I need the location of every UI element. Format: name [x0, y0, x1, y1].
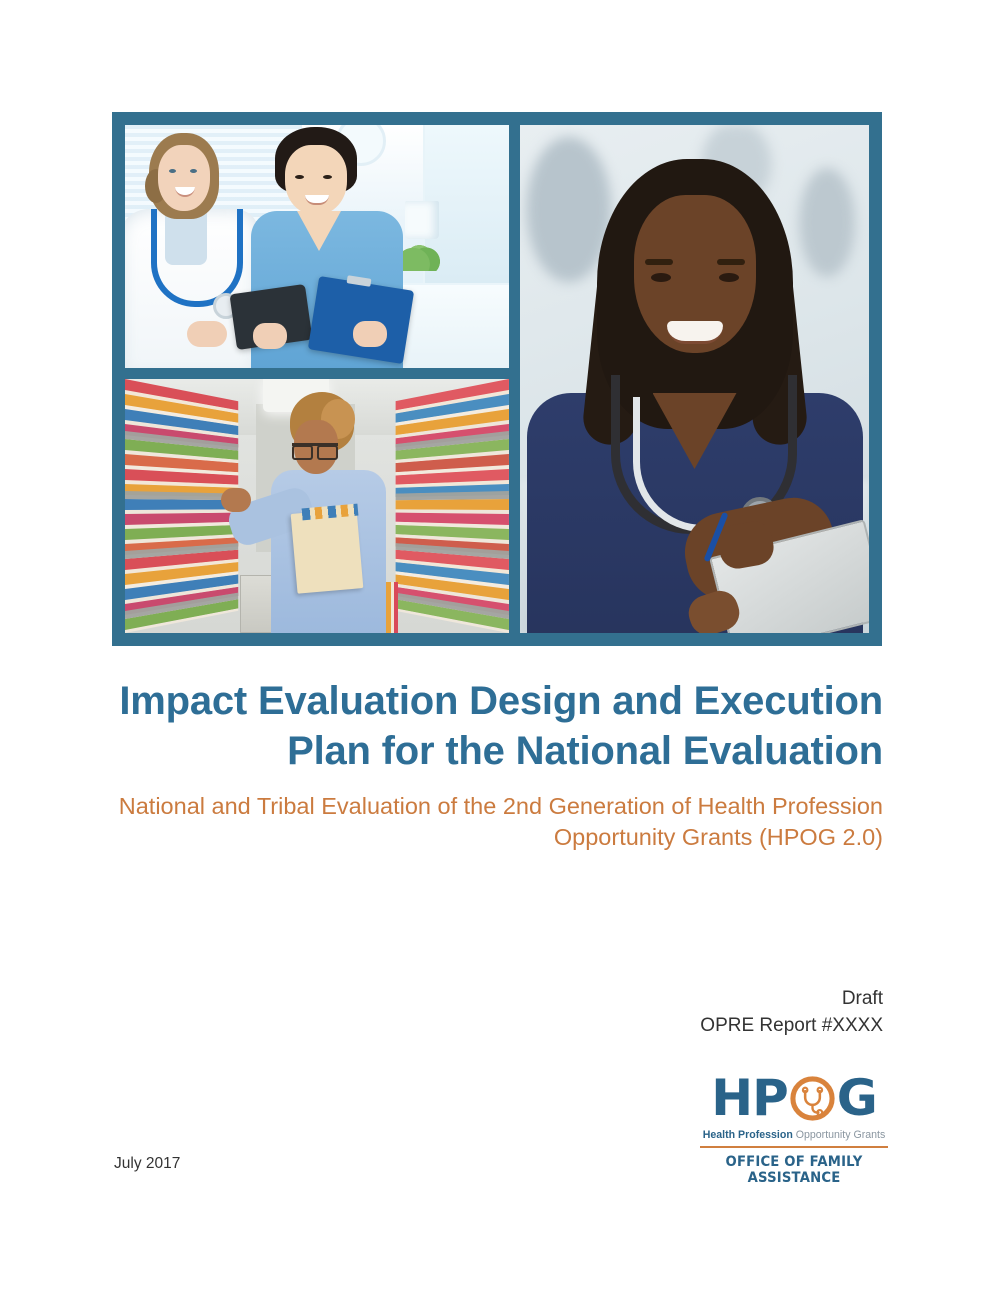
photo-nurse	[520, 125, 869, 633]
cover-image-collage	[112, 112, 882, 646]
doctor-right-eye	[190, 169, 197, 173]
nurse-left-eyebrow	[645, 259, 673, 265]
document-subtitle: National and Tribal Evaluation of the 2n…	[112, 791, 883, 854]
nurse-smile	[667, 321, 723, 344]
nurse-right-hand	[353, 321, 387, 347]
right-shelf-rails	[396, 379, 509, 633]
document-title: Impact Evaluation Design and Execution P…	[112, 676, 883, 777]
office-of-family-assistance-label: OFFICE OF FAMILY ASSISTANCE	[707, 1154, 882, 1186]
publication-date: July 2017	[114, 1155, 180, 1173]
doctor-hand	[187, 321, 227, 347]
title-block: Impact Evaluation Design and Execution P…	[112, 676, 883, 853]
clipboard-icon	[308, 276, 414, 364]
hpog-tagline-bold: Health Profession	[703, 1129, 793, 1141]
nurse-right-eye	[719, 273, 739, 282]
file-folder-icon	[291, 508, 364, 593]
report-meta: Draft OPRE Report #XXXX	[700, 986, 883, 1040]
records-worker-hand	[221, 488, 251, 512]
nurse-right-eyebrow	[717, 259, 745, 265]
nurse-left-eye	[651, 273, 671, 282]
hpog-wordmark: HP G	[700, 1072, 888, 1124]
hpog-tagline-light: Opportunity Grants	[796, 1129, 886, 1141]
hpog-logo: HP G Health Profession Opportunity Grant…	[700, 1072, 888, 1186]
hpog-letters-hp: HP	[711, 1073, 788, 1123]
collage-left-column	[125, 125, 509, 633]
draft-label: Draft	[700, 986, 883, 1013]
doctor-face	[158, 145, 210, 211]
report-number: OPRE Report #XXXX	[700, 1013, 883, 1040]
eyeglasses-icon	[292, 443, 338, 456]
plant-pot	[405, 201, 439, 239]
left-shelf-rails	[125, 379, 238, 633]
nurse-left-eye	[295, 175, 304, 179]
logo-divider	[700, 1146, 888, 1148]
photo-records	[125, 379, 509, 633]
photo-clinicians	[125, 125, 509, 368]
collage-right-column	[520, 125, 869, 633]
stethoscope-in-circle-icon	[789, 1075, 836, 1122]
nurse-left-hand	[253, 323, 287, 349]
stethoscope-icon	[151, 209, 243, 307]
nurse-right-eye	[323, 175, 332, 179]
doctor-left-eye	[169, 169, 176, 173]
hpog-tagline: Health Profession Opportunity Grants	[700, 1129, 888, 1141]
hpog-letters-g: G	[837, 1073, 877, 1123]
potted-plant-icon	[401, 237, 441, 271]
